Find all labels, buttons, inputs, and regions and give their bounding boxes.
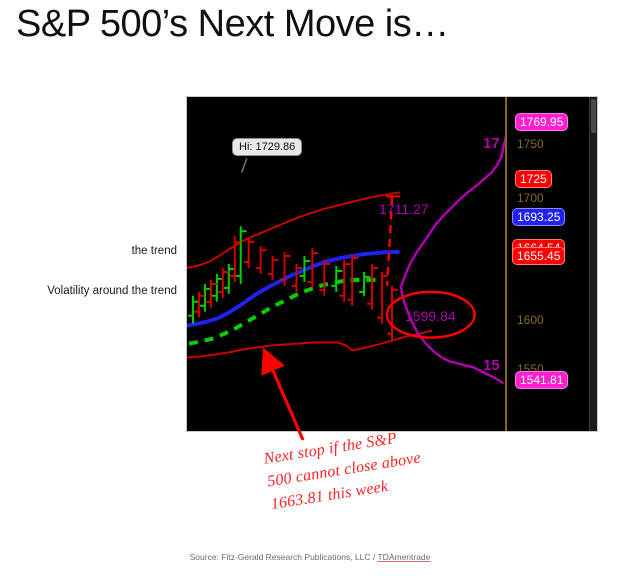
axis-fragment-lower: 15: [483, 357, 500, 374]
source-credit: Source: Fitz-Gerald Research Publication…: [0, 552, 620, 562]
label-projection-upper-value: 1711.27: [379, 201, 429, 217]
axis-tick-1750: 1750: [517, 137, 544, 151]
axis-badge-1769-95[interactable]: 1769.95: [515, 113, 568, 131]
label-projection-circled-value: 1599.84: [405, 308, 456, 324]
axis-tick-1700: 1700: [517, 191, 544, 205]
source-text: Source: Fitz-Gerald Research Publication…: [190, 552, 378, 562]
label-the-trend: the trend: [132, 245, 177, 257]
axis-badge-1693-25[interactable]: 1693.25: [512, 208, 565, 226]
price-axis[interactable]: 17 15 1750 1700 1650 1600 1550 1769.95 1…: [505, 97, 597, 431]
slide-canvas: S&P 500’s Next Move is… the trend Volati…: [0, 0, 620, 577]
page-title: S&P 500’s Next Move is…: [16, 2, 449, 46]
axis-badge-1655-45[interactable]: 1655.45: [512, 247, 565, 265]
series-trend-line: [187, 252, 398, 326]
series-price-candles: [188, 226, 398, 339]
price-tooltip: Hi: 1729.86: [232, 138, 302, 156]
axis-badge-1541-81[interactable]: 1541.81: [515, 371, 568, 389]
chart-scrollbar[interactable]: [589, 97, 597, 431]
chart-scrollbar-thumb[interactable]: [591, 99, 596, 133]
source-link[interactable]: TDAmeritrade: [377, 552, 430, 562]
tooltip-leader-line: [242, 159, 247, 173]
axis-tick-1600: 1600: [517, 313, 544, 327]
axis-badge-1725[interactable]: 1725: [515, 170, 552, 188]
price-chart[interactable]: 1711.27 1599.84 Hi: 1729.86 17 15 1750 1…: [186, 96, 598, 432]
series-upper-volatility-band: [187, 192, 400, 268]
axis-fragment-upper: 17: [483, 135, 500, 152]
label-volatility-around-trend: Volatility around the trend: [47, 285, 177, 297]
